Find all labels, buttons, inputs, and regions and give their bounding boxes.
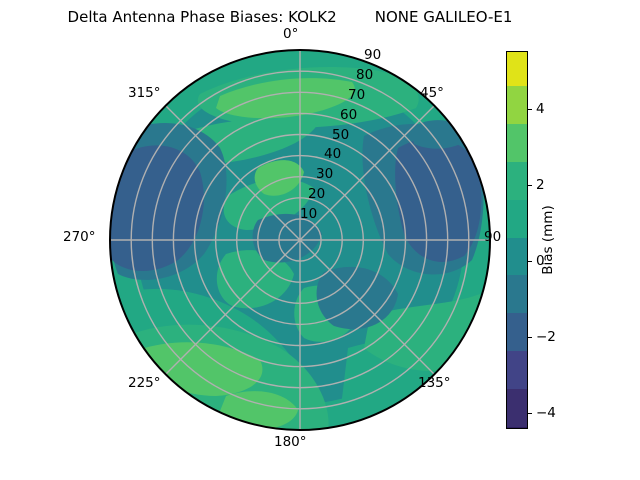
radial-tick-90: 90: [364, 47, 381, 63]
colorbar-tick-2: [528, 185, 532, 186]
colorbar-band-m1: [507, 275, 527, 313]
radial-tick-60: 60: [340, 107, 357, 123]
colorbar-ticklabel-m2: −2: [536, 329, 556, 345]
colorbar-band-m5: [507, 427, 527, 429]
radial-tick-80: 80: [356, 67, 373, 83]
angular-tick-225: 225°: [128, 375, 161, 391]
angular-gridlines: [110, 50, 490, 430]
colorbar-ticklabel-m4: −4: [536, 405, 556, 421]
angular-tick-90: 90: [484, 229, 501, 245]
radial-tick-20: 20: [308, 186, 325, 202]
figure-canvas: Delta Antenna Phase Biases: KOLK2 NONE G…: [0, 0, 640, 480]
colorbar-tick-m2: [528, 337, 532, 338]
angular-tick-135: 135°: [418, 375, 451, 391]
colorbar-band-m2: [507, 313, 527, 351]
colorbar-tick-m4: [528, 413, 532, 414]
colorbar[interactable]: 4 2 0 −2 −4: [506, 51, 528, 429]
colorbar-tick-0: [528, 261, 532, 262]
colorbar-gradient[interactable]: [506, 51, 528, 429]
angular-tick-0: 0°: [283, 26, 298, 42]
radial-tick-70: 70: [348, 87, 365, 103]
colorbar-ticklabel-2: 2: [536, 177, 545, 193]
angular-tick-45: 45°: [420, 85, 444, 101]
colorbar-tick-4: [528, 109, 532, 110]
colorbar-band-0: [507, 238, 527, 276]
colorbar-band-m4: [507, 389, 527, 427]
colorbar-band-5: [507, 52, 527, 86]
colorbar-band-2: [507, 162, 527, 200]
colorbar-band-4: [507, 86, 527, 124]
radial-tick-30: 30: [316, 166, 333, 182]
angular-tick-315: 315°: [128, 85, 161, 101]
angular-tick-180: 180°: [274, 434, 307, 450]
radial-tick-10: 10: [300, 206, 317, 222]
radial-tick-50: 50: [332, 127, 349, 143]
colorbar-band-3: [507, 124, 527, 162]
radial-tick-40: 40: [324, 146, 341, 162]
colorbar-band-1: [507, 200, 527, 238]
angular-tick-270: 270°: [63, 229, 96, 245]
colorbar-axis-label: Bias (mm): [540, 205, 556, 274]
colorbar-band-m3: [507, 351, 527, 389]
colorbar-ticklabel-4: 4: [536, 101, 545, 117]
page-title: Delta Antenna Phase Biases: KOLK2 NONE G…: [0, 8, 580, 26]
